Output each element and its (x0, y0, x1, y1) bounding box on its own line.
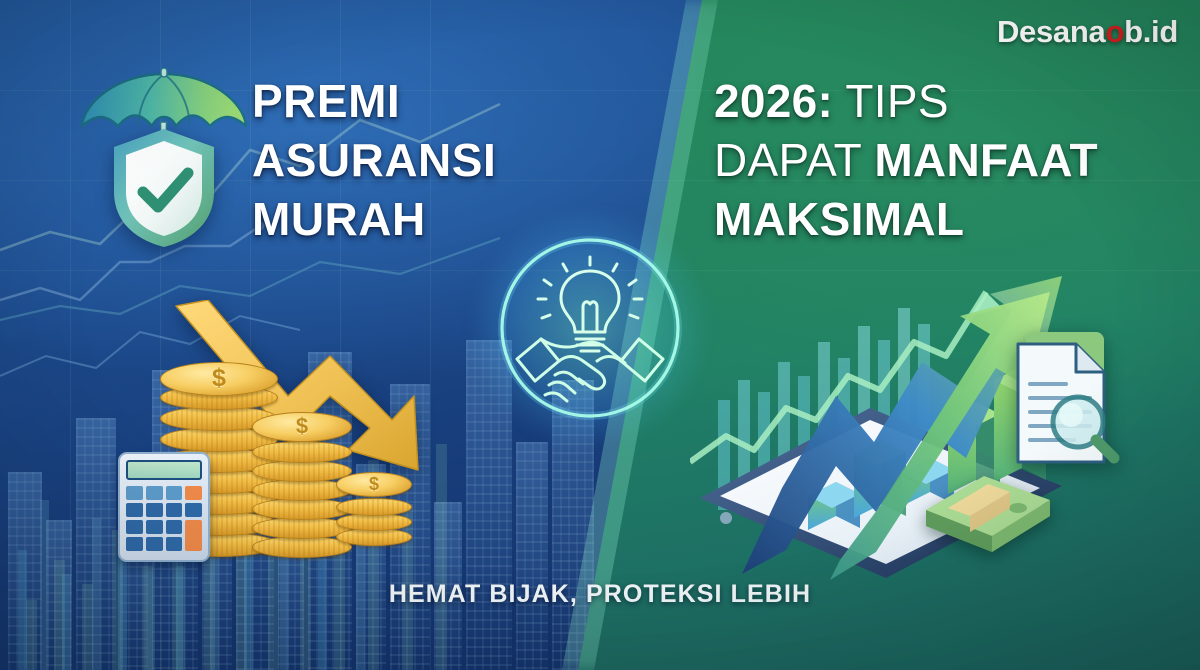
promo-banner: $ $ $ (0, 0, 1200, 670)
vignette-overlay (0, 0, 1200, 670)
